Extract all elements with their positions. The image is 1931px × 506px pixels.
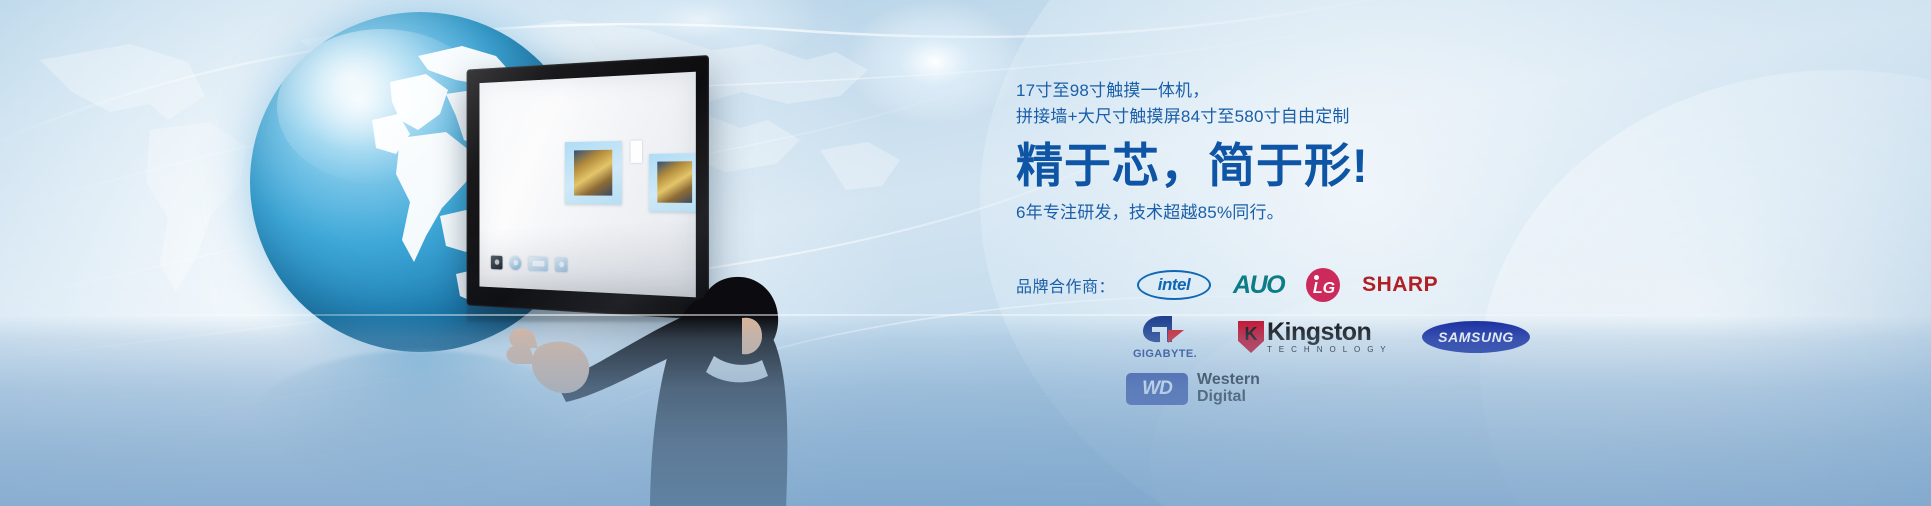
samsung-logo[interactable]: SAMSUNG — [1422, 321, 1530, 353]
app-icon-1[interactable] — [491, 255, 503, 269]
lg-logo[interactable]: LG — [1306, 268, 1340, 302]
kingston-logo[interactable]: Kingston T E C H N O L O G Y — [1238, 321, 1388, 354]
globe-highlight — [277, 29, 488, 185]
partner-row-3: WD Western Digital — [1016, 372, 1576, 406]
app-icon-2[interactable] — [510, 256, 522, 270]
sharp-logo[interactable]: SHARP — [1362, 273, 1438, 297]
promo-banner: 17寸至98寸触摸一体机， 拼接墙+大尺寸触摸屏84寸至580寸自由定制 精于芯… — [0, 0, 1931, 506]
gigabyte-logo[interactable]: GIGABYTE. — [1126, 314, 1204, 360]
auo-logo[interactable]: AUO — [1233, 271, 1284, 300]
wd-wordmark: Western Digital — [1197, 372, 1260, 406]
sub-line-1: 17寸至98寸触摸一体机， — [1016, 78, 1536, 104]
partners-label: 品牌合作商： — [1016, 273, 1115, 297]
gigabyte-wordmark: GIGABYTE. — [1126, 348, 1204, 360]
tagline: 6年专注研发，技术超越85%同行。 — [1016, 198, 1536, 223]
partner-row-1: 品牌合作商： intel AUO LG SHARP — [1016, 268, 1576, 302]
lg-wordmark: LG — [1306, 268, 1340, 302]
sky-glow-right — [980, 0, 1931, 506]
thumbnail-image-1 — [574, 150, 613, 195]
kingston-wordmark: Kingston — [1267, 318, 1371, 346]
copy-block: 17寸至98寸触摸一体机， 拼接墙+大尺寸触摸屏84寸至580寸自由定制 精于芯… — [1016, 78, 1536, 223]
app-icon-4[interactable] — [555, 257, 567, 271]
wd-line-2: Digital — [1197, 389, 1260, 406]
kingston-subtext: T E C H N O L O G Y — [1267, 345, 1388, 354]
app-icon-3[interactable] — [529, 256, 548, 271]
photo-thumbnail-2[interactable] — [649, 153, 696, 212]
western-digital-logo[interactable]: WD Western Digital — [1126, 372, 1260, 406]
touch-display[interactable] — [467, 55, 709, 320]
display-bezel — [467, 55, 709, 320]
sub-line-2: 拼接墙+大尺寸触摸屏84寸至580寸自由定制 — [1016, 104, 1536, 130]
display-screen[interactable] — [479, 72, 695, 298]
partner-row-2: GIGABYTE. Kingston T E C H N O L O G Y S… — [1016, 314, 1576, 360]
kingston-shield-icon — [1238, 321, 1264, 353]
gigabyte-mark — [1140, 314, 1186, 344]
intel-logo[interactable]: intel — [1137, 270, 1211, 300]
partners-block: 品牌合作商： intel AUO LG SHARP GIGABYTE. — [1016, 268, 1576, 406]
wd-badge: WD — [1126, 373, 1188, 405]
headline: 精于芯，简于形! — [1016, 141, 1536, 192]
globe-reflection — [250, 350, 590, 500]
photo-thumbnail-1[interactable] — [565, 141, 622, 204]
thumbnail-image-2 — [657, 161, 692, 203]
screen-note — [631, 141, 642, 163]
wd-line-1: Western — [1197, 372, 1260, 389]
